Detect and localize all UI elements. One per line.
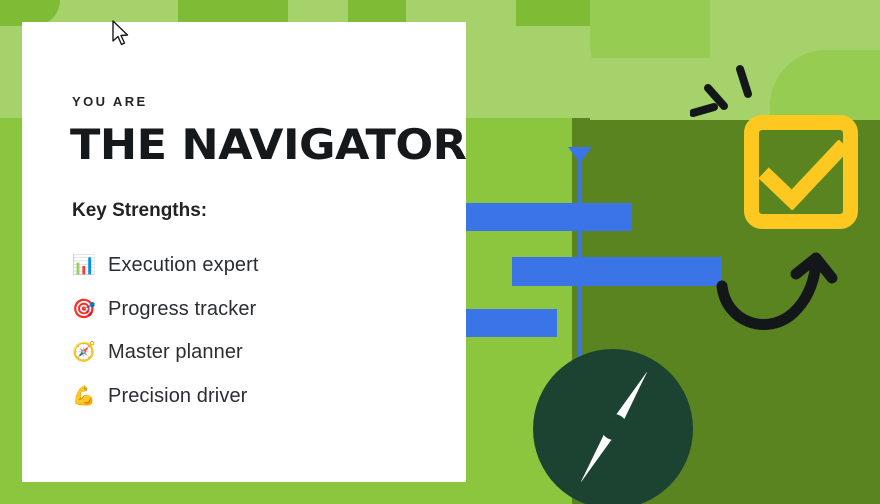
gantt-bar-2 [512,257,722,286]
list-item: 📊Execution expert [72,244,452,288]
eyebrow-label: YOU ARE [72,94,148,109]
strength-label: Master planner [108,341,243,364]
compass-emoji: 🧭 [72,343,108,362]
strength-label: Execution expert [108,254,259,277]
compass-needle-icon [573,368,653,486]
dart-target-emoji: 🎯 [72,300,108,319]
strengths-list: 📊Execution expert🎯Progress tracker🧭Maste… [72,244,452,418]
curved-arrow-icon [714,248,840,340]
mouse-pointer [112,20,130,48]
strengths-heading: Key Strengths: [72,200,207,222]
flexed-biceps-emoji: 💪 [72,387,108,406]
list-item: 🎯Progress tracker [72,288,452,332]
page-title: THE NAVIGATOR [70,120,466,169]
sparkle-lines-icon [690,60,780,130]
checkmark-icon [759,140,849,210]
strength-label: Progress tracker [108,298,256,321]
list-item: 🧭Master planner [72,331,452,375]
strength-label: Precision driver [108,385,247,408]
slide-canvas: YOU ARE THE NAVIGATOR Key Strengths: 📊Ex… [0,0,880,504]
bar-chart-emoji: 📊 [72,256,108,275]
list-item: 💪Precision driver [72,375,452,419]
profile-card: YOU ARE THE NAVIGATOR Key Strengths: 📊Ex… [22,22,466,482]
